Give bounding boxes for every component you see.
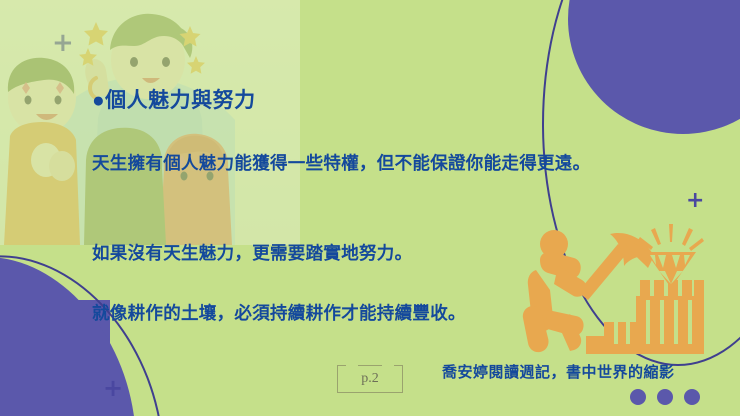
page-number-badge: p.2: [337, 365, 403, 393]
slide-heading: ●個人魅力與努力: [92, 84, 256, 114]
footer-caption: 喬安婷閱讀週記，書中世界的縮影: [442, 361, 675, 382]
dot-icon: [684, 389, 700, 405]
dot-icon: [630, 389, 646, 405]
slide-paragraph-1: 天生擁有個人魅力能獲得一些特權，但不能保證你能走得更遠。: [92, 148, 652, 179]
dot-icon: [657, 389, 673, 405]
slide-content: ●個人魅力與努力 天生擁有個人魅力能獲得一些特權，但不能保證你能走得更遠。 如果…: [0, 0, 740, 416]
slide-canvas: + + +: [0, 0, 740, 416]
slide-paragraph-3: 就像耕作的土壤，必須持續耕作才能持續豐收。: [92, 298, 692, 329]
page-number-label: p.2: [361, 371, 379, 387]
slide-paragraph-2: 如果沒有天生魅力，更需要踏實地努力。: [92, 238, 652, 269]
footer-dots: [630, 389, 700, 405]
